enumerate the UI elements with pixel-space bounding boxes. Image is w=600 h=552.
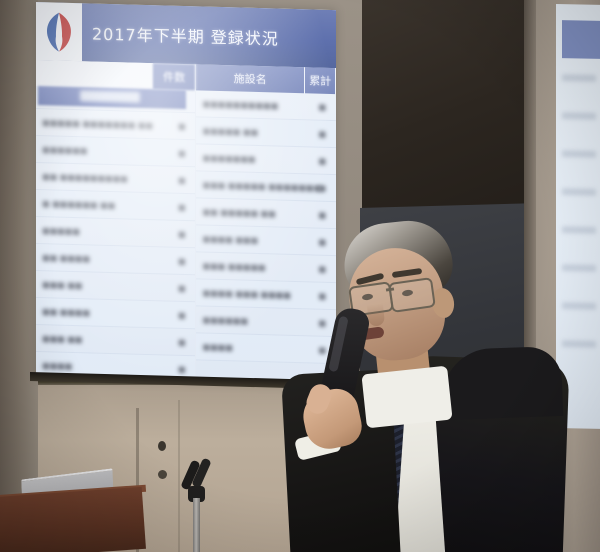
table-left-block: ■■■■■ ■■■■■■■ ■■ ■ ■■■■■■ ■ ■■ ■■■■■■■■■… xyxy=(36,86,195,380)
cell-count: ■ xyxy=(178,256,186,265)
second-screen-title-bar xyxy=(562,20,600,59)
cell-facility-name: ■■■■ ■■■ ■■■■ xyxy=(202,288,290,299)
presenter-collar xyxy=(361,366,452,429)
wall-fixture-bolt-1 xyxy=(158,441,166,451)
cell-count: ■ xyxy=(178,364,186,373)
cell-count: ■ xyxy=(178,202,186,211)
cell-facility-name: ■■■■■ xyxy=(42,226,80,236)
table-row: ■ ■■■■■■ ■■ ■ xyxy=(36,190,195,221)
table-row: ■■■ ■■■■■ ■■■■■■■ ■ xyxy=(196,171,336,202)
wall-left-column xyxy=(0,0,38,552)
table-row: ■■■■■ ■ xyxy=(36,217,195,248)
cell-facility-name: ■■ ■■■■ xyxy=(42,253,90,263)
cell-cumulative: ■ xyxy=(318,102,326,111)
cell-facility-name: ■■ ■■■■■ ■■ xyxy=(202,207,275,218)
table-header-cumulative: 累計 xyxy=(305,67,336,94)
second-screen-row xyxy=(562,188,596,196)
table-row: ■■■ ■■ ■ xyxy=(36,325,195,356)
table-row: ■■ ■■■■ ■ xyxy=(36,244,195,275)
cell-count: ■ xyxy=(178,283,186,292)
table-header-facility-name: 施設名 xyxy=(196,64,306,93)
cell-count: ■ xyxy=(178,229,186,238)
presenter xyxy=(292,212,600,552)
cell-count: ■ xyxy=(178,337,186,346)
cell-facility-name: ■■■■■■■ xyxy=(202,153,255,163)
table-row: ■■ ■■■■ ■ xyxy=(36,298,195,329)
slide-table-body: ■■■■■ ■■■■■■■ ■■ ■ ■■■■■■ ■ ■■ ■■■■■■■■■… xyxy=(36,86,336,384)
table-row: ■■■■■ ■■■■■■■ ■■ ■ xyxy=(36,109,195,140)
second-screen-row xyxy=(562,74,596,82)
table-header-count: 件数 xyxy=(153,63,195,90)
cell-facility-name: ■■■■■ ■■ xyxy=(202,126,257,137)
table-row: ■■■■■ ■■ ■ xyxy=(196,117,336,148)
cell-facility-name: ■■■ ■■ xyxy=(42,334,82,344)
cell-facility-name: ■■ ■■■■■■■■■ xyxy=(42,172,128,183)
wall-vertical-seam-2 xyxy=(178,400,180,552)
presentation-photo-scene: 2017年下半期 登録状況 件数 施設名 累計 ■■■■■ ■■■■■■■ ■■… xyxy=(0,0,600,552)
cell-facility-name: ■■■ ■■ xyxy=(42,280,82,290)
cell-cumulative: ■ xyxy=(318,156,326,165)
flame-logo-icon xyxy=(42,9,76,54)
table-row: ■■■ ■■ ■ xyxy=(36,271,195,302)
cell-facility-name: ■■■■ ■■■ xyxy=(202,234,257,245)
wall-fixture-bolt-2 xyxy=(158,470,167,479)
slide-title: 2017年下半期 登録状況 xyxy=(92,21,279,50)
second-screen-row xyxy=(562,112,596,120)
cell-cumulative: ■ xyxy=(318,183,326,192)
projection-screen: 2017年下半期 登録状況 件数 施設名 累計 ■■■■■ ■■■■■■■ ■■… xyxy=(36,2,336,386)
cell-facility-name: ■■■■■■■■■■ xyxy=(202,99,278,110)
cell-facility-name: ■■■■■■ xyxy=(202,315,247,325)
cell-facility-name: ■ ■■■■■■ ■■ xyxy=(42,199,115,210)
slide-title-bar: 2017年下半期 登録状況 xyxy=(36,2,336,68)
cell-count: ■ xyxy=(178,121,186,130)
cell-facility-name: ■■■ ■■■■■ xyxy=(202,261,265,272)
cell-count: ■ xyxy=(178,310,186,319)
second-screen-row xyxy=(562,150,596,158)
presenter-glasses-right-lens xyxy=(388,277,436,313)
cell-count: ■ xyxy=(178,148,186,157)
table-header-blank xyxy=(36,60,153,89)
table-row: ■■■■■■ ■ xyxy=(36,136,195,167)
presenter-nose xyxy=(367,303,385,327)
podium xyxy=(0,487,146,552)
microphone-stand xyxy=(193,498,200,552)
cell-facility-name: ■■■■■■ xyxy=(42,145,87,155)
table-row: ■■ ■■■■■■■■■ ■ xyxy=(36,163,195,194)
organization-logo xyxy=(36,2,82,61)
cell-facility-name: ■■ ■■■■ xyxy=(42,307,90,317)
cell-count: ■ xyxy=(178,175,186,184)
table-row: ■■■■■■■■■■ ■ xyxy=(196,90,336,121)
cell-facility-name: ■■■■ xyxy=(42,361,72,371)
dark-wall-panel-upper xyxy=(362,0,532,212)
cell-facility-name: ■■■■ xyxy=(202,342,232,352)
cell-facility-name: ■■■■■ ■■■■■■■ ■■ xyxy=(42,118,153,130)
cell-facility-name: ■■■ ■■■■■ ■■■■■■■ xyxy=(202,180,320,192)
table-row: ■■■■■■■ ■ xyxy=(196,144,336,175)
cell-cumulative: ■ xyxy=(318,129,326,138)
